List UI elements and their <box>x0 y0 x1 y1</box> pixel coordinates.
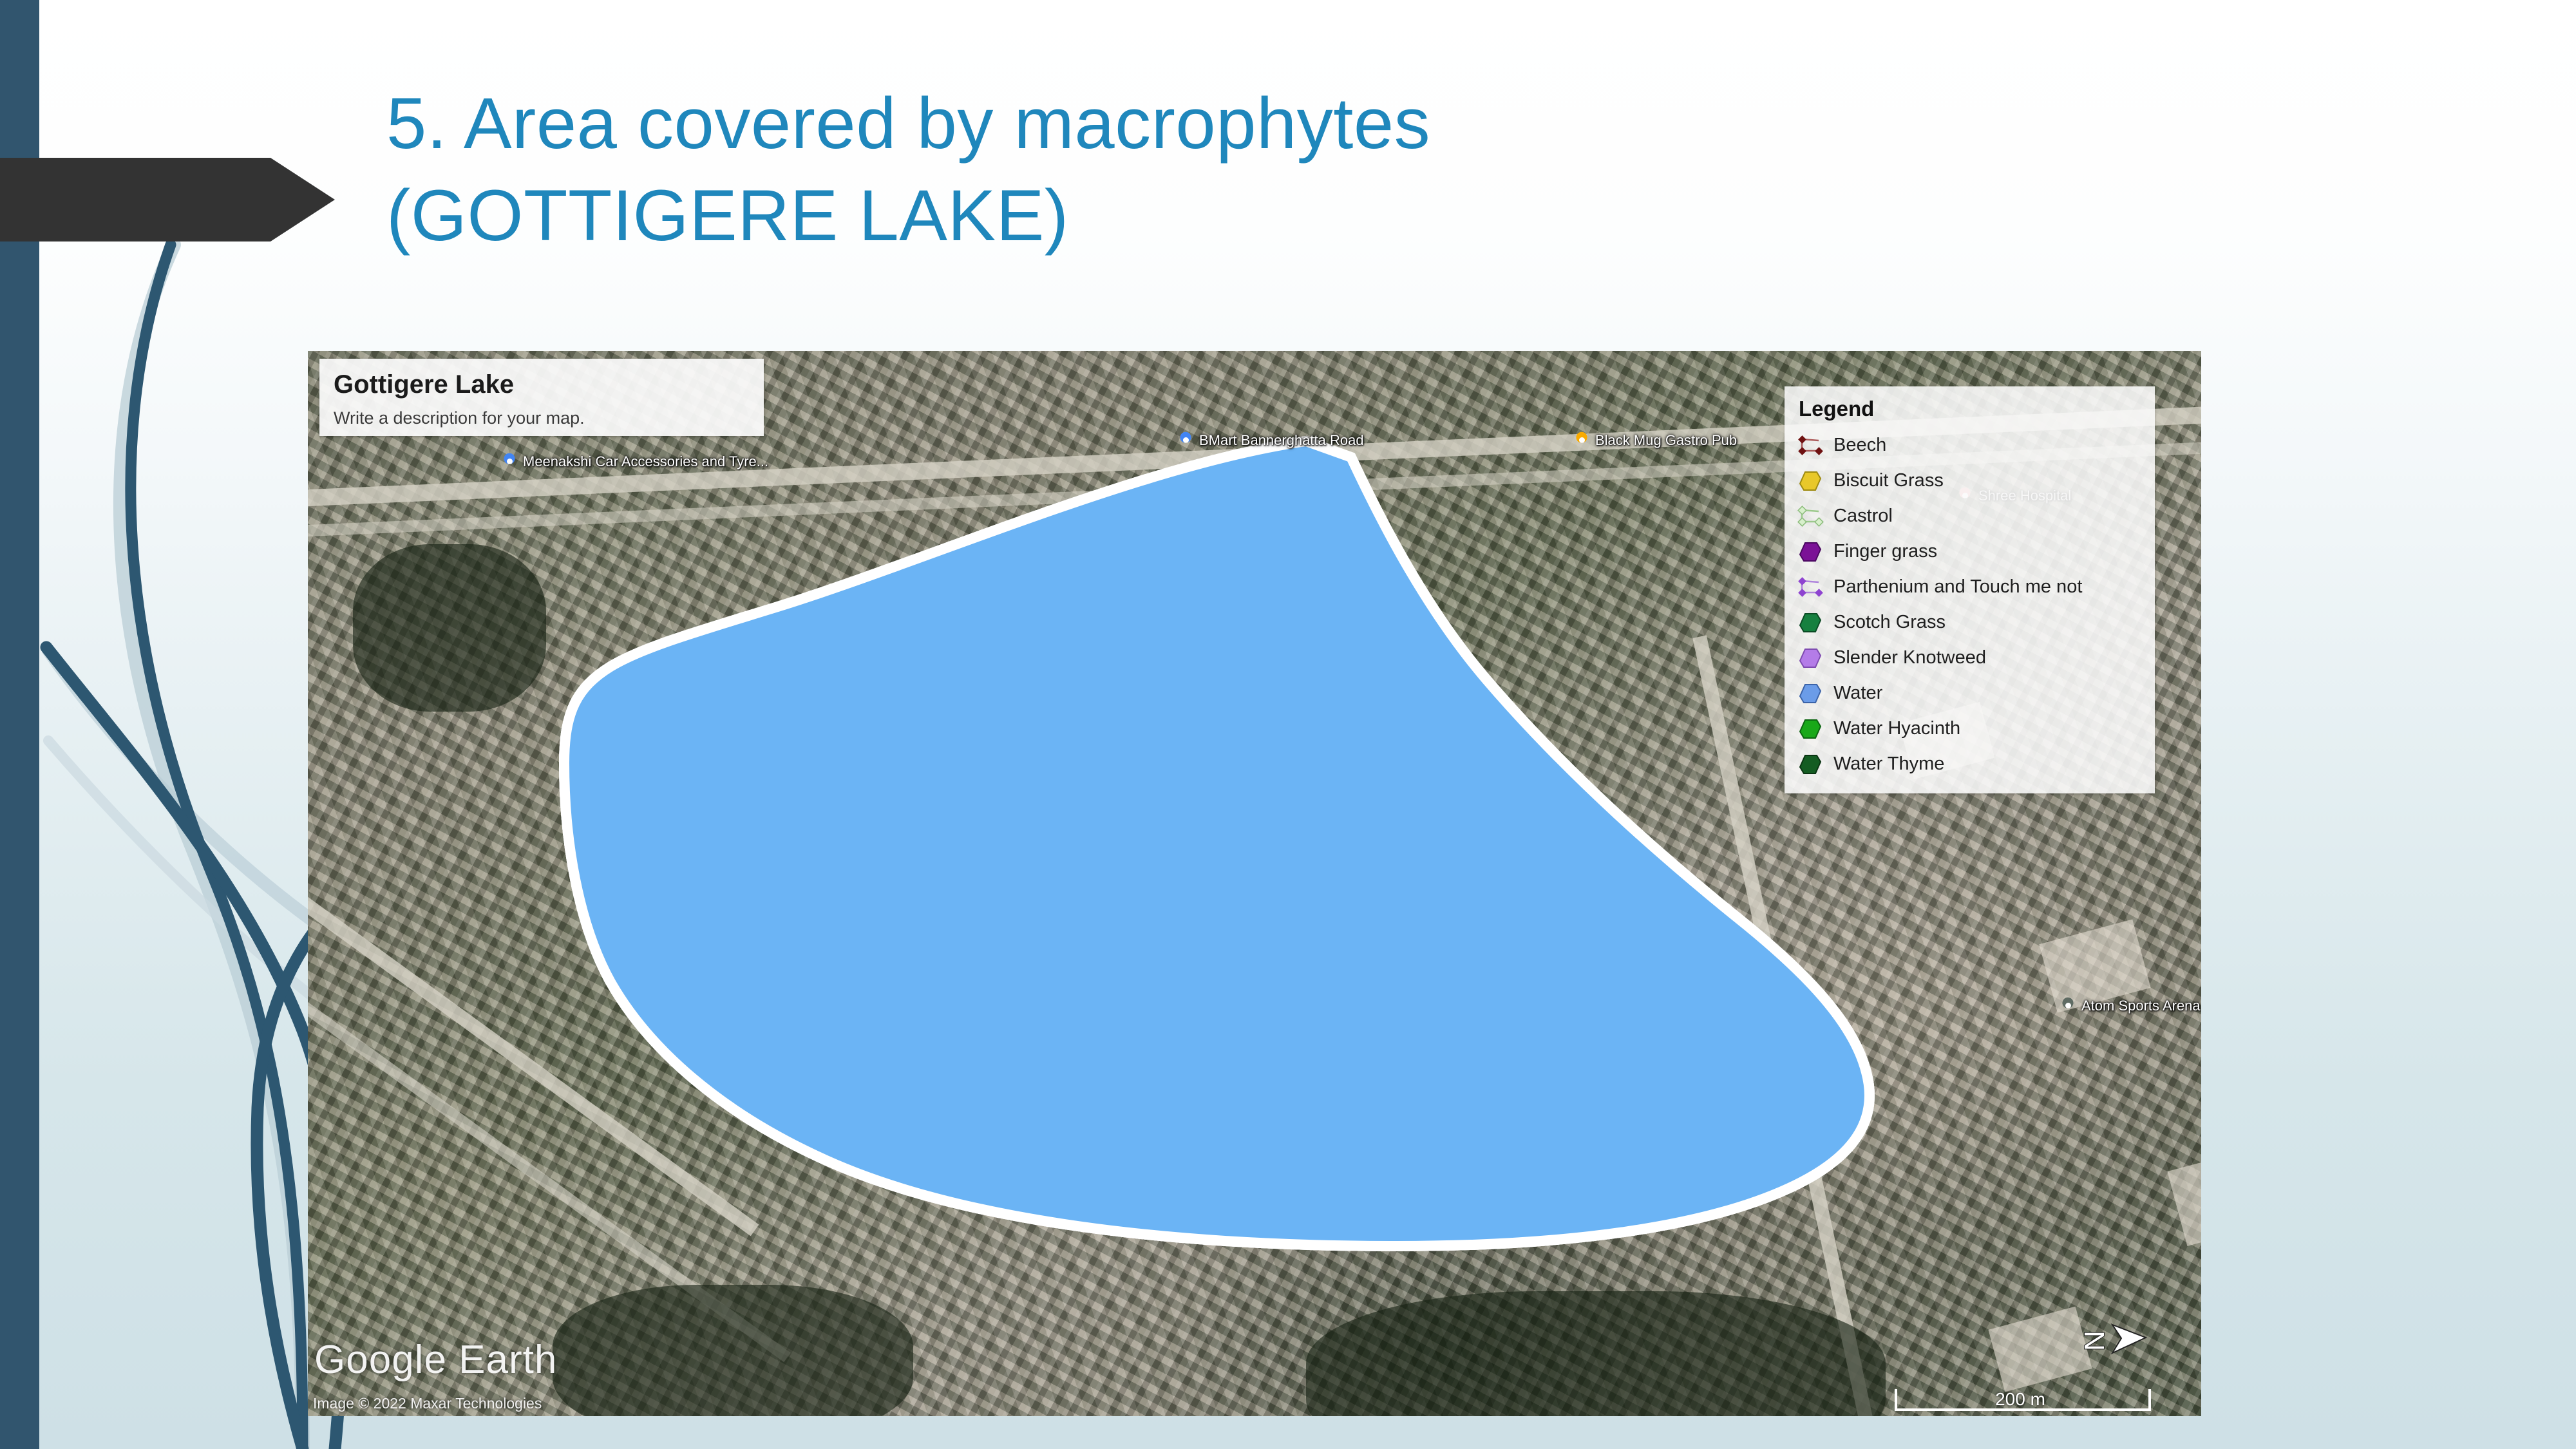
poi-label: Atom Sports Arena <box>2081 998 2201 1014</box>
poi-meenakshi-car-accessories[interactable]: Meenakshi Car Accessories and Tyre... <box>501 451 768 473</box>
page-title-line-1: 5. Area covered by macrophytes <box>386 77 2061 169</box>
legend-item-water-hyacinth[interactable]: Water Hyacinth <box>1796 711 2143 746</box>
poi-black-mug-gastro-pub[interactable]: Black Mug Gastro Pub <box>1573 430 1737 451</box>
legend-label: Finger grass <box>1833 541 1937 562</box>
legend-title: Legend <box>1799 397 2143 421</box>
legend-label: Biscuit Grass <box>1833 470 1944 491</box>
svg-text:N: N <box>2078 1331 2110 1351</box>
imagery-credit: Image © 2022 Maxar Technologies <box>313 1395 542 1412</box>
legend-label: Water Hyacinth <box>1833 718 1960 739</box>
map-title-card[interactable]: Gottigere Lake Write a description for y… <box>319 359 764 436</box>
scale-bar-label: 200 m <box>1895 1389 2146 1410</box>
poi-label: Black Mug Gastro Pub <box>1595 432 1737 449</box>
legend-label: Castrol <box>1833 506 1893 527</box>
legend-label: Beech <box>1833 435 1886 456</box>
google-earth-logo: Google Earth <box>314 1337 557 1383</box>
legend-item-scotch-grass[interactable]: Scotch Grass <box>1796 605 2143 640</box>
path-line-icon <box>1796 504 1824 529</box>
polygon-icon <box>1796 468 1824 494</box>
legend-item-finger-grass[interactable]: Finger grass <box>1796 534 2143 569</box>
map-legend[interactable]: Legend Beech Biscuit Grass <box>1785 386 2155 793</box>
map-pin-icon <box>501 451 518 473</box>
polygon-icon <box>1796 752 1824 777</box>
polygon-icon <box>1796 716 1824 742</box>
legend-label: Water <box>1833 683 1882 704</box>
legend-label: Parthenium and Touch me not <box>1833 576 2082 598</box>
legend-item-parthenium-touch-me-not[interactable]: Parthenium and Touch me not <box>1796 569 2143 605</box>
polygon-icon <box>1796 610 1824 636</box>
poi-label: Meenakshi Car Accessories and Tyre... <box>523 453 768 470</box>
north-arrow-icon: N <box>2070 1321 2147 1361</box>
legend-label: Scotch Grass <box>1833 612 1946 633</box>
map-description: Write a description for your map. <box>334 408 750 428</box>
legend-label: Water Thyme <box>1833 753 1944 775</box>
poi-atom-sports-arena[interactable]: Atom Sports Arena <box>2060 995 2201 1017</box>
map-scale-bar: 200 m <box>1895 1381 2146 1411</box>
map-pin-icon <box>1177 430 1194 451</box>
legend-item-biscuit-grass[interactable]: Biscuit Grass <box>1796 463 2143 498</box>
legend-item-water[interactable]: Water <box>1796 676 2143 711</box>
legend-item-beech[interactable]: Beech <box>1796 428 2143 463</box>
poi-bmart-bannerghatta-road[interactable]: BMart Bannerghatta Road <box>1177 430 1364 451</box>
path-line-icon <box>1796 574 1824 600</box>
map-pin-icon <box>1573 430 1590 451</box>
map-title: Gottigere Lake <box>334 370 750 399</box>
page-title-line-2: (GOTTIGERE LAKE) <box>386 169 2061 261</box>
map-image[interactable]: Meenakshi Car Accessories and Tyre... BM… <box>308 351 2201 1416</box>
polygon-icon <box>1796 681 1824 706</box>
path-line-icon <box>1796 433 1824 459</box>
legend-label: Slender Knotweed <box>1833 647 1986 668</box>
page-title: 5. Area covered by macrophytes (GOTTIGER… <box>386 77 2061 262</box>
legend-item-slender-knotweed[interactable]: Slender Knotweed <box>1796 640 2143 676</box>
polygon-icon <box>1796 539 1824 565</box>
polygon-icon <box>1796 645 1824 671</box>
map-pin-icon <box>2060 995 2076 1017</box>
legend-item-water-thyme[interactable]: Water Thyme <box>1796 746 2143 782</box>
poi-label: BMart Bannerghatta Road <box>1199 432 1364 449</box>
legend-item-castrol[interactable]: Castrol <box>1796 498 2143 534</box>
template-arrow-banner <box>0 158 335 241</box>
